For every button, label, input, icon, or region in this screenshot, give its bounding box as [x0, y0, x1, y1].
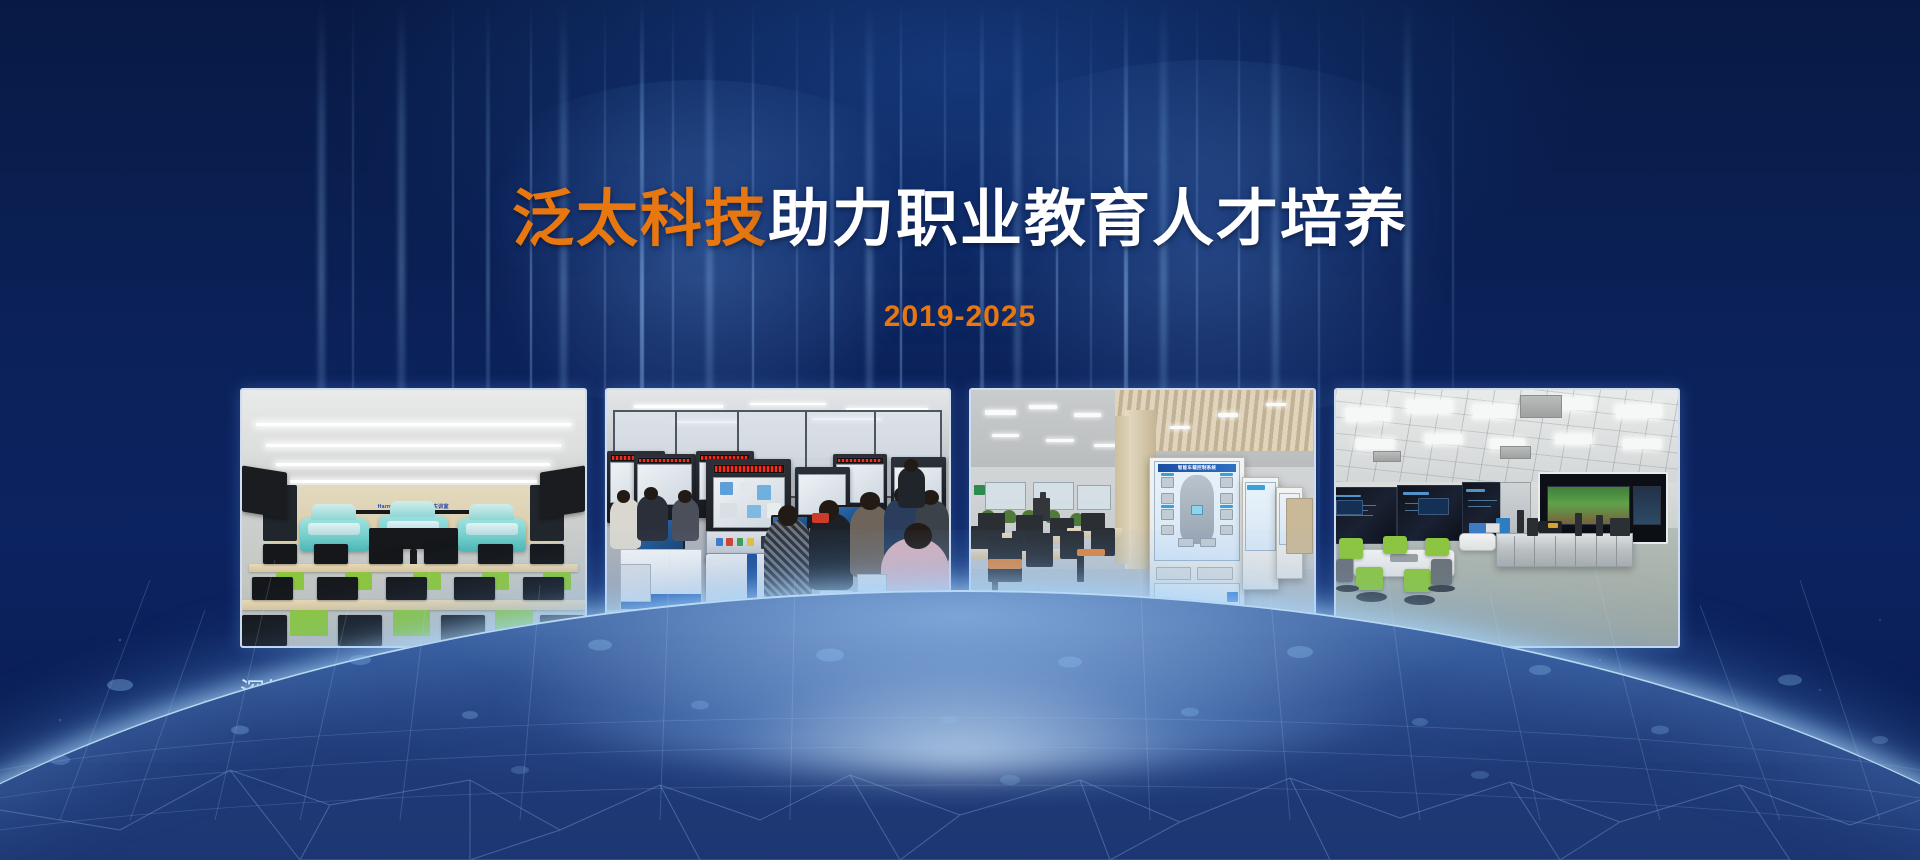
caption-en: HEFEI [1030, 677, 1105, 706]
gallery-card-shenzhen[interactable]: HarmonyOS 智能座舱实训室 [240, 388, 587, 648]
caption-cn: 深圳 [240, 677, 291, 706]
caption-cn: 合肥 [969, 677, 1020, 706]
caption-en: CHONGQING [1395, 677, 1559, 706]
gallery-card-hebei[interactable] [605, 388, 952, 648]
city-captions: 深圳SHENZHEN 河北HEBEI 合肥HEFEI 重庆CHONGQING [240, 672, 1680, 716]
page-title: 泛太科技助力职业教育人才培养 [0, 168, 1920, 258]
banner-stage: 泛太科技助力职业教育人才培养 2019-2025 HarmonyOS 智能座舱实… [0, 0, 1920, 860]
caption-hefei: 合肥HEFEI [969, 672, 1316, 716]
title-rest: 助力职业教育人才培养 [768, 182, 1408, 255]
photo-frame: 智能车载控制系统 [969, 388, 1316, 648]
caption-en: HEBEI [666, 677, 743, 706]
caption-chongqing: 重庆CHONGQING [1334, 672, 1681, 716]
photo-frame: HarmonyOS 智能座舱实训室 [240, 388, 587, 648]
caption-cn: 重庆 [1334, 677, 1385, 706]
caption-hebei: 河北HEBEI [605, 672, 952, 716]
photo-hebei [607, 390, 950, 646]
caption-cn: 河北 [605, 677, 656, 706]
caption-en: SHENZHEN [301, 677, 445, 706]
photo-chongqing [1336, 390, 1679, 646]
gallery-card-chongqing[interactable] [1334, 388, 1681, 648]
gallery-card-hefei[interactable]: 智能车载控制系统 [969, 388, 1316, 648]
title-year-range: 2019-2025 [0, 300, 1920, 334]
caption-shenzhen: 深圳SHENZHEN [240, 672, 587, 716]
photo-hefei: 智能车载控制系统 [971, 390, 1314, 646]
photo-frame [1334, 388, 1681, 648]
photo-shenzhen: HarmonyOS 智能座舱实训室 [242, 390, 585, 646]
title-brand: 泛太科技 [512, 182, 768, 255]
photo-frame [605, 388, 952, 648]
photo-gallery: HarmonyOS 智能座舱实训室 [240, 388, 1680, 648]
